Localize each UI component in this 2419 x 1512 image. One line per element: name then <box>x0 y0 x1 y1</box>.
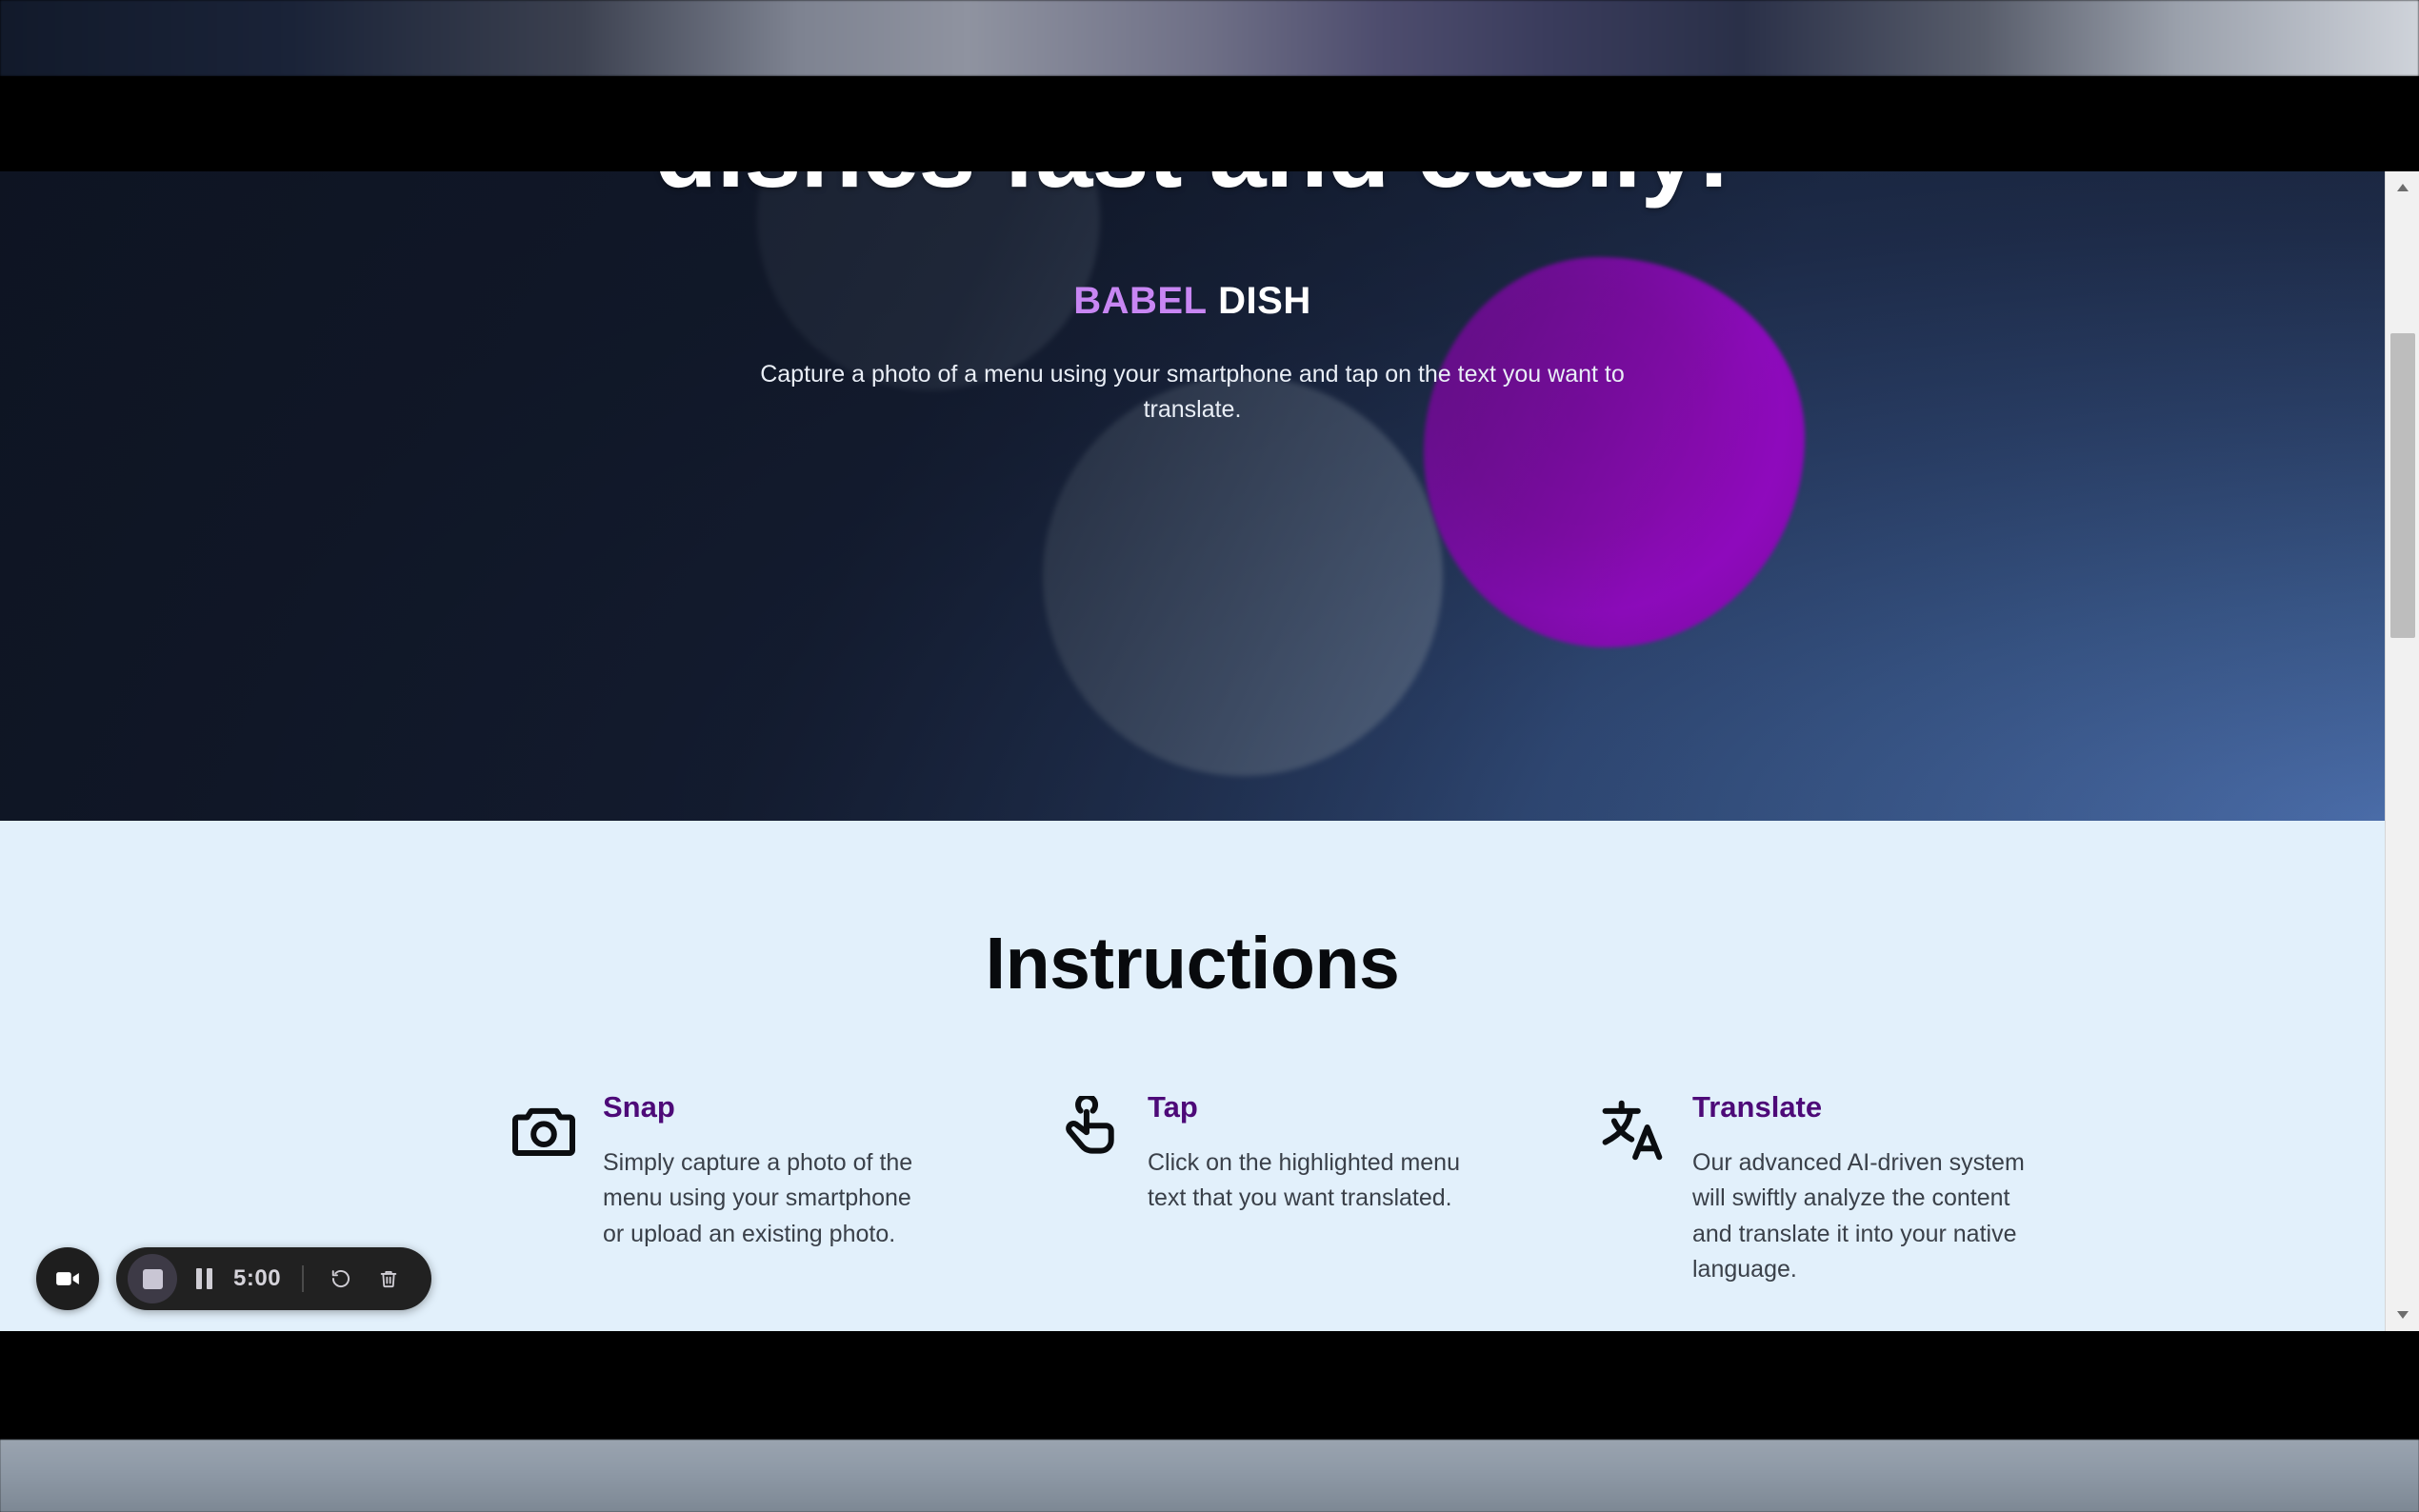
instruction-step-text: Our advanced AI-driven system will swift… <box>1692 1145 2028 1287</box>
instruction-step-title: Tap <box>1148 1090 1483 1124</box>
desktop-background-bottom-strip <box>0 1440 2419 1512</box>
letterbox-bottom <box>0 1331 2419 1440</box>
instruction-step-title: Snap <box>603 1090 938 1124</box>
instructions-title: Instructions <box>0 922 2385 1006</box>
browser-viewport: dishes fast and easily! BABEL DISH Captu… <box>0 171 2419 1331</box>
camera-icon <box>510 1096 578 1164</box>
instruction-step-snap: Snap Simply capture a photo of the menu … <box>510 1090 938 1287</box>
translate-icon <box>1599 1096 1668 1164</box>
screen-capture: dishes fast and easily! BABEL DISH Captu… <box>0 0 2419 1512</box>
letterbox-top <box>0 76 2419 171</box>
instruction-step-text: Simply capture a photo of the menu using… <box>603 1145 938 1252</box>
restart-icon[interactable] <box>319 1257 363 1301</box>
recording-timer: 5:00 <box>233 1265 281 1292</box>
instruction-step-tap: Tap Click on the highlighted menu text t… <box>1054 1090 1483 1287</box>
scrollbar-thumb[interactable] <box>2390 333 2415 638</box>
pause-button[interactable] <box>196 1268 212 1289</box>
instruction-step-translate: Translate Our advanced AI-driven system … <box>1599 1090 2028 1287</box>
instruction-step-title: Translate <box>1692 1090 2028 1124</box>
stop-button[interactable] <box>128 1254 177 1303</box>
hero-section: dishes fast and easily! BABEL DISH Captu… <box>0 171 2385 821</box>
chevron-down-icon[interactable] <box>2386 1299 2419 1331</box>
brand-name-second: DISH <box>1218 280 1311 322</box>
instruction-step-text: Click on the highlighted menu text that … <box>1148 1145 1483 1217</box>
pause-icon-bar-right <box>207 1268 212 1289</box>
pause-icon-bar-left <box>196 1268 202 1289</box>
chevron-up-icon[interactable] <box>2386 171 2419 204</box>
tap-hand-icon <box>1054 1096 1123 1164</box>
brand-logo: BABEL DISH <box>0 280 2385 323</box>
page-scrollbar[interactable] <box>2385 171 2419 1331</box>
decorative-blob-grey-middle <box>1043 376 1443 776</box>
video-camera-icon[interactable] <box>36 1247 99 1310</box>
desktop-background-top-strip <box>0 0 2419 76</box>
stop-icon <box>143 1269 163 1289</box>
hero-title: dishes fast and easily! <box>0 171 2385 206</box>
screen-recorder-toolbar: 5:00 <box>36 1247 431 1310</box>
trash-icon[interactable] <box>367 1257 410 1301</box>
recorder-controls-pill: 5:00 <box>116 1247 431 1310</box>
brand-name-first: BABEL <box>1073 280 1207 322</box>
hero-subtitle: Capture a photo of a menu using your sma… <box>740 357 1645 427</box>
toolbar-divider <box>302 1265 304 1292</box>
